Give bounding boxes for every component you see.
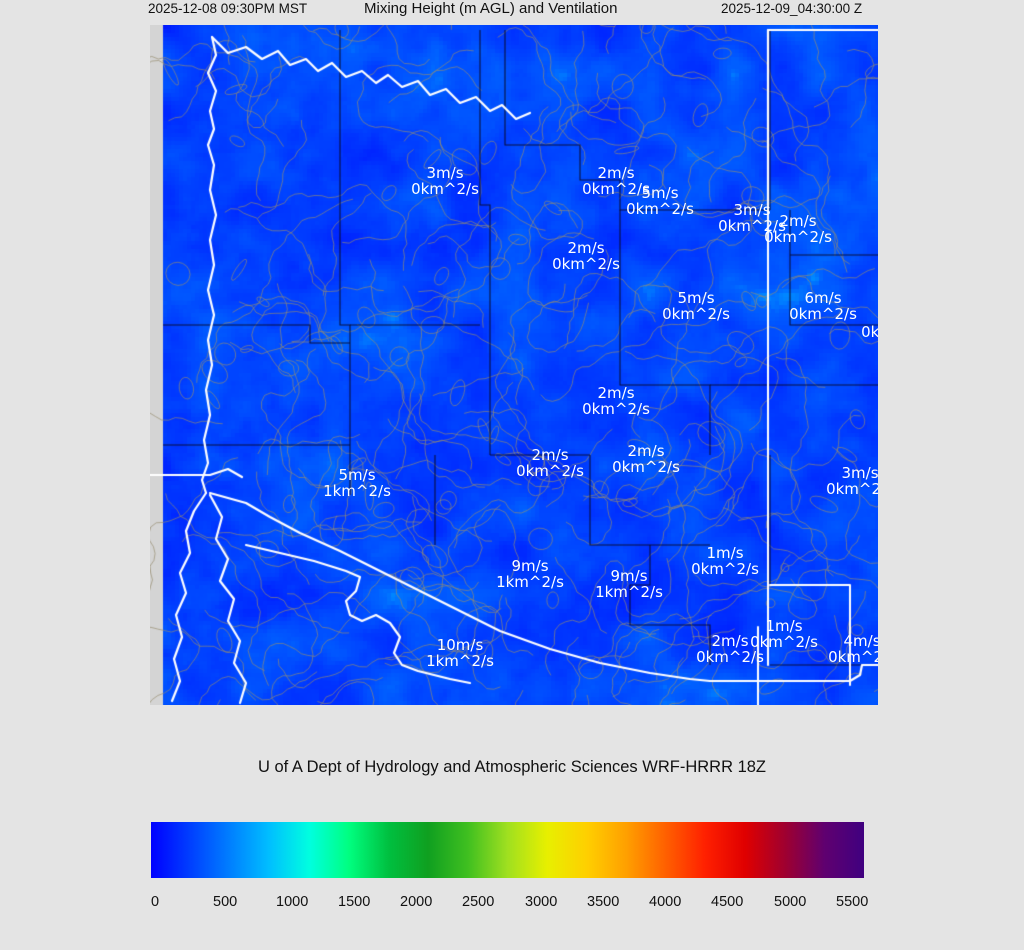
colorbar-tick: 5500	[836, 894, 868, 910]
colorbar-tick: 3500	[587, 894, 619, 910]
colorbar-tick: 500	[213, 894, 237, 910]
colorbar	[151, 822, 864, 878]
valid-time-label: 2025-12-09_04:30:00 Z	[721, 1, 862, 16]
colorbar-tick: 2500	[462, 894, 494, 910]
colorbar-tick: 1500	[338, 894, 370, 910]
colorbar-tick: 4500	[711, 894, 743, 910]
source-caption: U of A Dept of Hydrology and Atmospheric…	[0, 758, 1024, 777]
colorbar-tick: 1000	[276, 894, 308, 910]
header-bar: 2025-12-08 09:30PM MST Mixing Height (m …	[0, 0, 1024, 22]
colorbar-tick: 0	[151, 894, 159, 910]
map-panel[interactable]: 3m/s0km^2/s2m/s0km^2/s5m/s0km^2/s3m/s0km…	[150, 25, 878, 705]
colorbar-tick: 3000	[525, 894, 557, 910]
colorbar-tick: 2000	[400, 894, 432, 910]
colorbar-tick-labels: 0500100015002000250030003500400045005000…	[151, 894, 911, 914]
colorbar-tick: 5000	[774, 894, 806, 910]
local-time-label: 2025-12-08 09:30PM MST	[148, 1, 307, 16]
page-title: Mixing Height (m AGL) and Ventilation	[364, 0, 617, 17]
mixing-height-raster	[150, 25, 878, 705]
colorbar-tick: 4000	[649, 894, 681, 910]
